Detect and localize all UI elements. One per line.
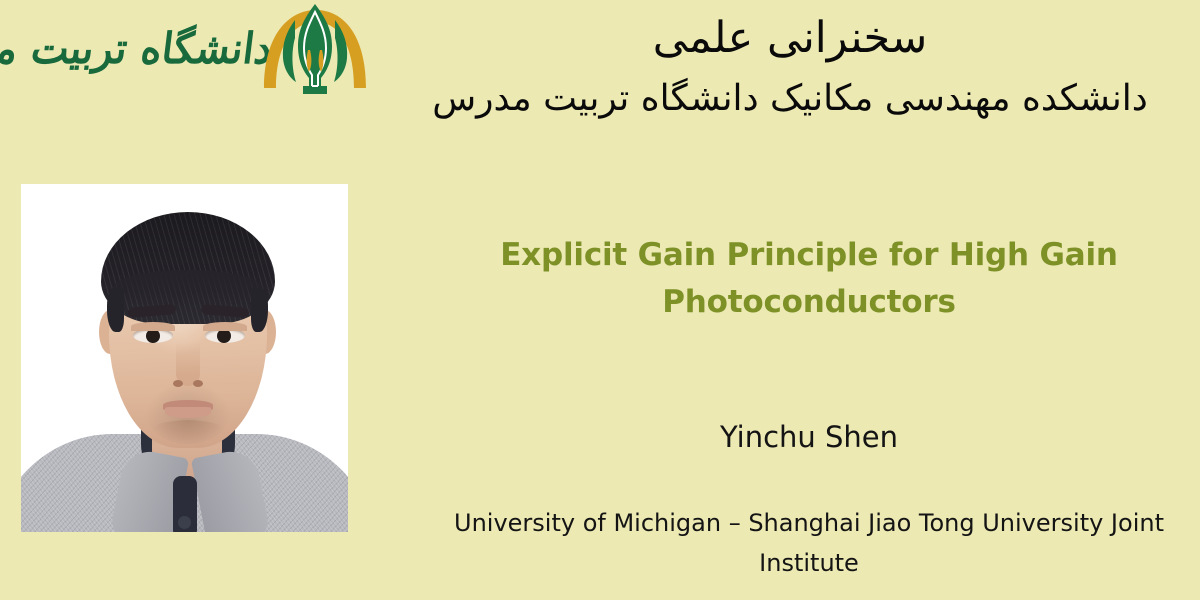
- photo-pupil-right: [217, 329, 231, 343]
- speaker-name: Yinchu Shen: [418, 418, 1200, 456]
- tulip-emblem-icon: [262, 2, 368, 94]
- photo-hair-fringe: [113, 270, 263, 306]
- speaker-portrait-photo: [21, 184, 348, 532]
- photo-hair-texture: [101, 212, 275, 324]
- faculty-heading: دانشکده مهندسی مکانیک دانشگاه تربیت مدرس: [380, 70, 1200, 128]
- photo-pupil-left: [146, 329, 160, 343]
- photo-chin-shadow: [151, 420, 225, 442]
- photo-lower-lip: [165, 407, 211, 418]
- university-logo: دانشگاه تربیت مدرس: [4, 2, 364, 98]
- photo-sideburn-right: [251, 288, 268, 332]
- university-wordmark-persian: دانشگاه تربیت مدرس: [0, 6, 277, 93]
- photo-sideburn-left: [107, 288, 124, 332]
- poster-header: دانشگاه تربیت مدرس: [0, 0, 1200, 165]
- photo-button: [178, 516, 191, 529]
- persian-header-text: سخنرانی علمی دانشکده مهندسی مکانیک دانشگ…: [380, 6, 1200, 128]
- seminar-poster: دانشگاه تربیت مدرس: [0, 0, 1200, 600]
- photo-eyelid-left: [131, 322, 175, 331]
- talk-title: Explicit Gain Principle for High Gain Ph…: [418, 232, 1200, 326]
- event-type-heading: سخنرانی علمی: [380, 6, 1200, 70]
- photo-eyelid-right: [203, 322, 247, 331]
- talk-details: Explicit Gain Principle for High Gain Ph…: [418, 232, 1200, 583]
- photo-nostril-right: [193, 380, 203, 387]
- speaker-affiliation: University of Michigan – Shanghai Jiao T…: [418, 503, 1200, 583]
- photo-nostril-left: [173, 380, 183, 387]
